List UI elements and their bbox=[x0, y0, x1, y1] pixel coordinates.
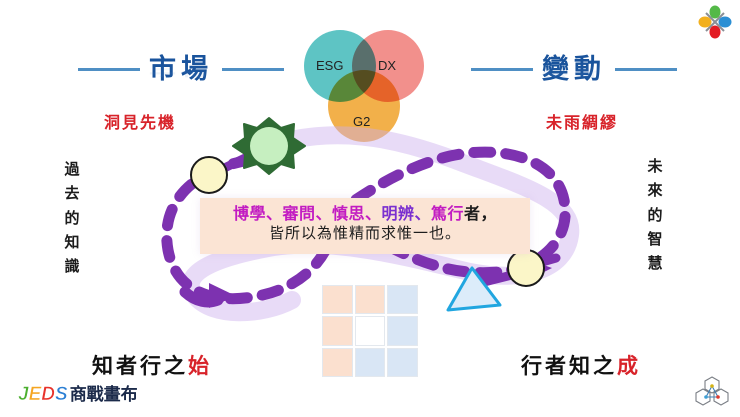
grid-cell-2-0 bbox=[322, 348, 353, 377]
brand-letter-e: E bbox=[29, 385, 42, 404]
quote-line-2: 皆所以為惟精而求惟一也。 bbox=[214, 225, 516, 244]
nine-cell-grid bbox=[322, 285, 418, 377]
brand-letter-j: J bbox=[18, 385, 29, 404]
quote-seg-0: 博學、審問、慎思、 bbox=[233, 206, 382, 223]
grid-cell-0-2 bbox=[387, 285, 418, 314]
grid-cell-1-2 bbox=[387, 316, 418, 345]
quote-box: 博學、審問、慎思、明辨、篤行者， 皆所以為惟精而求惟一也。 bbox=[200, 198, 530, 254]
quote-seg-1: 明辨、 bbox=[381, 206, 431, 223]
yellow-circle-left-icon bbox=[191, 157, 227, 193]
slide-canvas: 市場 市場 洞見先機 變動 變動 未雨綢繆 ESG DX G2 過 去 的 知 … bbox=[0, 0, 740, 417]
brand-letter-d: D bbox=[41, 385, 55, 404]
hexagon-logo-icon bbox=[694, 375, 730, 409]
yellow-circle-right-icon bbox=[508, 250, 544, 286]
brand-letter-s: S bbox=[55, 385, 68, 404]
quote-seg-2: 篤行 bbox=[431, 206, 464, 223]
quote-seg-3: 者， bbox=[464, 206, 497, 223]
eight-point-star-icon bbox=[233, 118, 305, 174]
caption-left-plain: 知者行之 bbox=[92, 354, 188, 378]
grid-cell-1-1 bbox=[355, 316, 386, 345]
caption-left-highlight: 始 bbox=[188, 354, 212, 378]
caption-left: 知者行之始 bbox=[92, 350, 212, 380]
quote-line-1: 博學、審問、慎思、明辨、篤行者， bbox=[214, 205, 516, 225]
grid-cell-2-1 bbox=[355, 348, 386, 377]
grid-cell-2-2 bbox=[387, 348, 418, 377]
grid-cell-1-0 bbox=[322, 316, 353, 345]
caption-right-highlight: 成 bbox=[617, 354, 641, 378]
grid-cell-0-1 bbox=[355, 285, 386, 314]
grid-cell-0-0 bbox=[322, 285, 353, 314]
caption-right: 行者知之成 bbox=[521, 350, 641, 380]
footer-brand: J E D S 商戰畫布 bbox=[18, 385, 138, 404]
brand-chinese-name: 商戰畫布 bbox=[70, 386, 138, 403]
caption-right-plain: 行者知之 bbox=[521, 354, 617, 378]
flower-logo-icon bbox=[698, 5, 732, 39]
